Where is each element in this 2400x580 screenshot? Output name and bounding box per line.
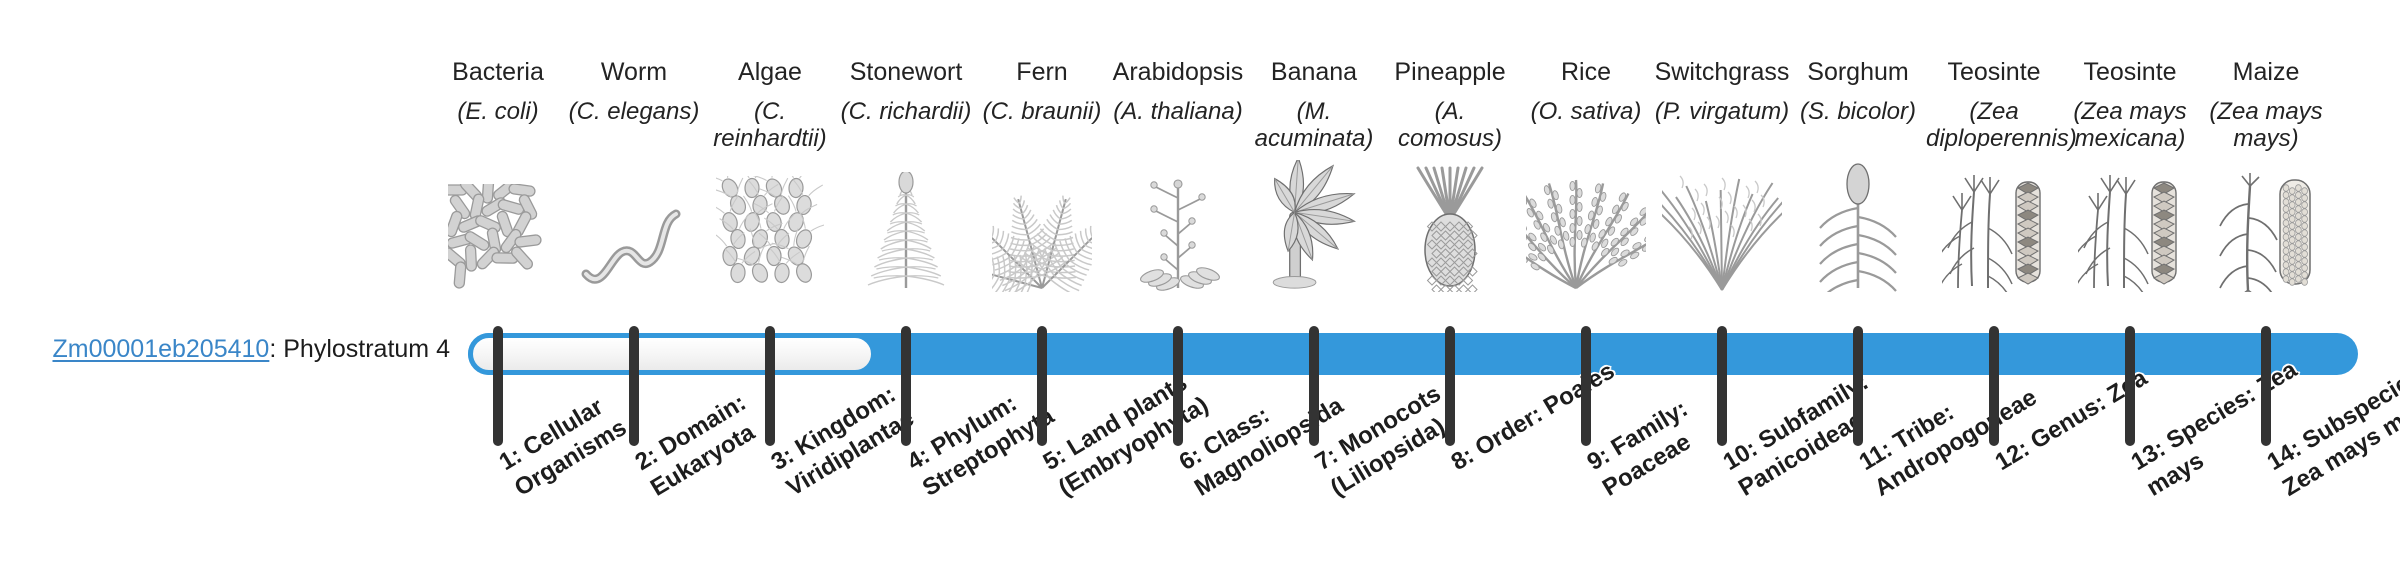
species-common-name: Algae [702,58,838,86]
species-common-name: Fern [974,58,1110,86]
arabidopsis-plant-icon [1110,168,1246,292]
phylostratum-tick-3[interactable] [765,326,775,446]
bacteria-rods-icon [430,168,566,292]
species-scientific-name: (A. comosus) [1382,98,1518,152]
species-common-name: Rice [1518,58,1654,86]
phylostratum-tick-5[interactable] [1037,326,1047,446]
species-scientific-name: (P. virgatum) [1654,98,1790,125]
species-common-name: Teosinte [2062,58,2198,86]
species-common-name: Maize [2198,58,2334,86]
phylostratum-tick-6[interactable] [1173,326,1183,446]
species-scientific-name: (Zea diploperennis) [1926,98,2062,152]
phylostratum-tick-4[interactable] [901,326,911,446]
species-column-1: Bacteria(E. coli)1: Cellular Organisms [430,0,566,580]
phylostratum-tick-2[interactable] [629,326,639,446]
phylostratum-tick-10[interactable] [1717,326,1727,446]
species-scientific-name: (E. coli) [430,98,566,125]
phylostratum-tick-8[interactable] [1445,326,1455,446]
species-common-name: Worm [566,58,702,86]
species-scientific-name: (C. richardii) [838,98,974,125]
phylostratum-tick-13[interactable] [2125,326,2135,446]
species-column-12: Teosinte(Zea diploperennis)12: Genus: Ze… [1926,0,2062,580]
phylostratum-value: Phylostratum 4 [283,335,450,363]
species-column-10: Switchgrass(P. virgatum)10: Subfamily: P… [1654,0,1790,580]
species-column-2: Worm(C. elegans)2: Domain: Eukaryota [566,0,702,580]
species-common-name: Teosinte [1926,58,2062,86]
species-column-7: Banana(M. acuminata)7: Monocots (Liliops… [1246,0,1382,580]
species-column-4: Stonewort(C. richardii)4: Phylum: Strept… [838,0,974,580]
gene-label-separator: : [269,335,283,363]
species-scientific-name: (C. elegans) [566,98,702,125]
species-scientific-name: (C. reinhardtii) [702,98,838,152]
species-common-name: Pineapple [1382,58,1518,86]
stonewort-alga-icon [838,168,974,292]
species-common-name: Sorghum [1790,58,1926,86]
switchgrass-plant-icon [1654,168,1790,292]
phylostratum-tick-11[interactable] [1853,326,1863,446]
species-column-6: Arabidopsis(A. thaliana)6: Class: Magnol… [1110,0,1246,580]
species-scientific-name: (S. bicolor) [1790,98,1926,125]
fern-frond-icon [974,168,1110,292]
species-common-name: Switchgrass [1654,58,1790,86]
pineapple-fruit-icon [1382,168,1518,292]
phylostratum-tick-9[interactable] [1581,326,1591,446]
gene-row-label: Zm00001eb205410: Phylostratum 4 [40,334,450,364]
phylostratum-tick-12[interactable] [1989,326,1999,446]
species-scientific-name: (Zea mays mays) [2198,98,2334,152]
species-column-11: Sorghum(S. bicolor)11: Tribe: Andropogon… [1790,0,1926,580]
species-columns: Bacteria(E. coli)1: Cellular OrganismsWo… [460,0,2360,580]
species-scientific-name: (A. thaliana) [1110,98,1246,125]
phylostratum-tick-14[interactable] [2261,326,2271,446]
nematode-worm-icon [566,168,702,292]
species-column-9: Rice(O. sativa)9: Family: Poaceae [1518,0,1654,580]
species-common-name: Bacteria [430,58,566,86]
phylostratum-tick-7[interactable] [1309,326,1319,446]
species-column-5: Fern(C. braunii)5: Land plants (Embryoph… [974,0,1110,580]
rice-plant-icon [1518,168,1654,292]
phylostratigraphy-track: Zm00001eb205410: Phylostratum 4 Bacteria… [0,0,2400,580]
species-common-name: Stonewort [838,58,974,86]
sorghum-plant-icon [1790,168,1926,292]
maize-plant-and-cob-icon [2198,168,2334,292]
gene-id-link[interactable]: Zm00001eb205410 [52,335,269,363]
species-scientific-name: (M. acuminata) [1246,98,1382,152]
phylostratum-tick-1[interactable] [493,326,503,446]
species-column-8: Pineapple(A. comosus)8: Order: Poales [1382,0,1518,580]
taxon-rank-label: 14: Subspecies: Zea mays mays [2262,344,2400,504]
species-column-14: Maize(Zea mays mays)14: Subspecies: Zea … [2198,0,2334,580]
species-common-name: Banana [1246,58,1382,86]
algae-cells-icon [702,168,838,292]
species-common-name: Arabidopsis [1110,58,1246,86]
species-scientific-name: (O. sativa) [1518,98,1654,125]
banana-plant-icon [1246,168,1382,292]
teosinte-plant-and-ear-icon [1926,168,2062,292]
species-column-13: Teosinte(Zea mays mexicana)13: Species: … [2062,0,2198,580]
teosinte-mexicana-plant-and-ear-icon [2062,168,2198,292]
species-column-3: Algae(C. reinhardtii)3: Kingdom: Viridip… [702,0,838,580]
species-scientific-name: (Zea mays mexicana) [2062,98,2198,152]
species-scientific-name: (C. braunii) [974,98,1110,125]
